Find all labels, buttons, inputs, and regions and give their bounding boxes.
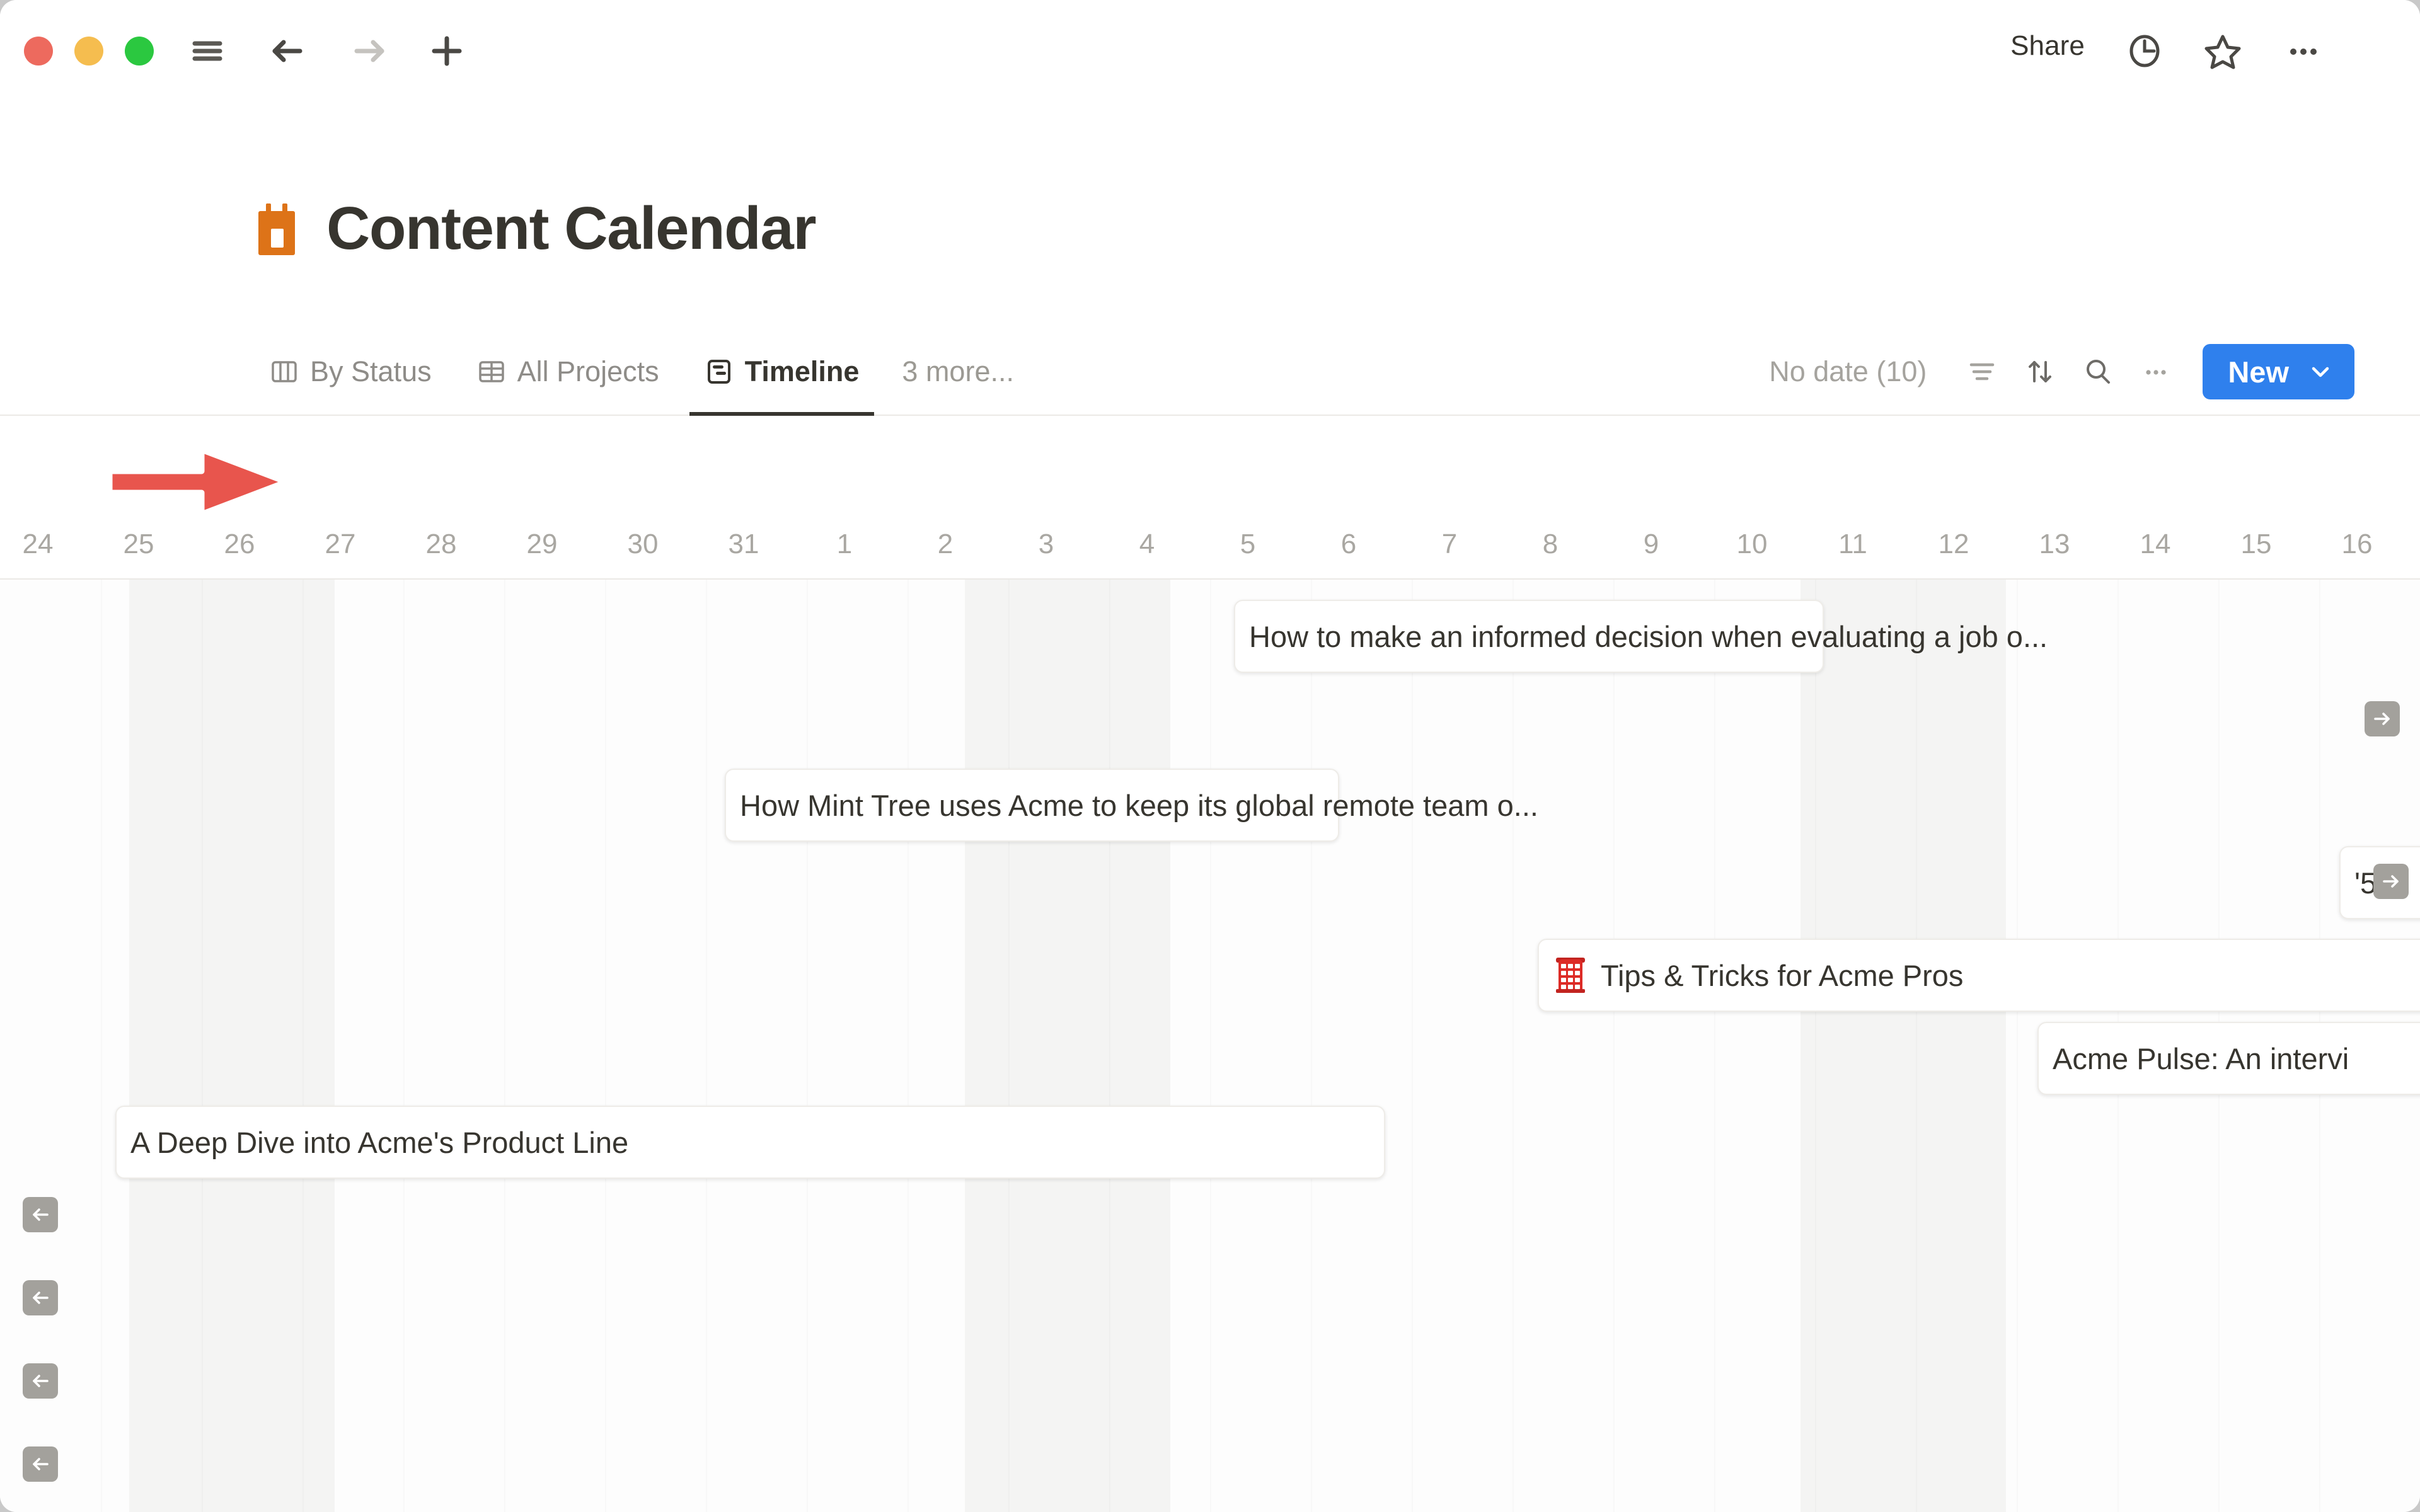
weekend-column (965, 580, 1170, 1512)
tab-by-status[interactable]: By Status (255, 328, 447, 416)
board-view-icon (270, 357, 299, 386)
page-title-row: Content Calendar (255, 198, 815, 259)
grid-line (807, 580, 808, 1512)
grid-line (1311, 580, 1312, 1512)
timeline-card[interactable]: Tips & Tricks for Acme Pros (1538, 939, 2420, 1012)
day-ruler-cell: 14 (2105, 510, 2206, 578)
day-ruler-cell: 12 (1903, 510, 2004, 578)
timeline-card[interactable]: Acme Pulse: An intervi (2037, 1022, 2420, 1095)
telephone-box-emoji-icon (1553, 958, 1588, 993)
grid-line (101, 580, 102, 1512)
calendar-emoji-icon (255, 202, 300, 255)
tab-timeline[interactable]: Timeline (689, 328, 875, 416)
new-button-label: New (2228, 355, 2289, 389)
day-ruler-cell: 27 (290, 510, 391, 578)
grid-line (302, 580, 304, 1512)
sort-icon[interactable] (2011, 343, 2069, 401)
tab-all-projects[interactable]: All Projects (462, 328, 674, 416)
search-icon[interactable] (2069, 343, 2127, 401)
view-tabs-bar: By Status All Projects Timeline (0, 328, 2420, 416)
share-button[interactable]: Share (2010, 30, 2085, 62)
grid-line (1714, 580, 1715, 1512)
grid-line (1613, 580, 1615, 1512)
day-ruler-cell: 6 (1298, 510, 1399, 578)
grid-line (504, 580, 505, 1512)
hamburger-menu-icon[interactable] (184, 28, 231, 74)
day-ruler-cell: 4 (1097, 510, 1197, 578)
grid-line (907, 580, 909, 1512)
timeline-card-title: A Deep Dive into Acme's Product Line (130, 1128, 628, 1157)
new-button[interactable]: New (2203, 344, 2354, 399)
plus-icon[interactable] (423, 28, 470, 74)
view-toolbar: No date (10) (1769, 328, 2354, 416)
day-ruler-cell: 5 (1197, 510, 1298, 578)
grid-line (2017, 580, 2018, 1512)
weekend-column (1801, 580, 2006, 1512)
grid-line (403, 580, 405, 1512)
scroll-left-badge-icon[interactable] (23, 1280, 58, 1315)
timeline-header: » January 2024 February 5 Open in Calend… (0, 416, 2420, 491)
annotation-arrow-icon (107, 441, 290, 523)
day-ruler-cell: 30 (592, 510, 693, 578)
day-ruler-cell: 7 (1399, 510, 1500, 578)
tab-label: Timeline (745, 355, 860, 388)
day-ruler-cell: 10 (1702, 510, 1802, 578)
day-ruler-cell: 31 (693, 510, 794, 578)
arrow-left-icon[interactable] (265, 28, 311, 74)
ellipsis-icon[interactable] (2280, 28, 2327, 74)
timeline-card-title: Acme Pulse: An intervi (2053, 1044, 2349, 1074)
filter-icon[interactable] (1953, 343, 2011, 401)
grid-line (1210, 580, 1211, 1512)
grid-line (202, 580, 203, 1512)
toolbar-more-icon[interactable] (2127, 343, 2185, 401)
star-icon[interactable] (2199, 28, 2246, 74)
grid-line (1412, 580, 1413, 1512)
tab-label: All Projects (517, 355, 659, 388)
day-ruler-cell: 15 (2206, 510, 2307, 578)
table-view-icon (477, 357, 506, 386)
scroll-left-badge-icon[interactable] (23, 1197, 58, 1232)
tab-label: By Status (310, 355, 432, 388)
timeline-card-title: Tips & Tricks for Acme Pros (1601, 961, 1963, 990)
timeline-day-ruler: 242526272829303112345678910111213141516 (0, 510, 2420, 580)
scroll-left-badge-icon[interactable] (23, 1446, 58, 1482)
scroll-right-badge-icon[interactable] (2365, 701, 2400, 736)
timeline-card-title: How Mint Tree uses Acme to keep its glob… (740, 791, 1538, 820)
timeline-card[interactable]: How to make an informed decision when ev… (1234, 600, 1824, 673)
grid-line (706, 580, 707, 1512)
window-titlebar: Share (0, 0, 2420, 101)
day-ruler-cell: 16 (2307, 510, 2407, 578)
timeline-card[interactable]: A Deep Dive into Acme's Product Line (115, 1106, 1385, 1179)
view-tabs: By Status All Projects Timeline (255, 328, 1027, 416)
day-ruler-cell: 28 (391, 510, 492, 578)
scroll-left-badge-icon[interactable] (23, 1363, 58, 1399)
no-date-count-label[interactable]: No date (10) (1769, 355, 1927, 388)
day-ruler-cell: 29 (492, 510, 592, 578)
app-window: Share Content Calendar (0, 0, 2420, 1512)
day-ruler-cell: 3 (996, 510, 1097, 578)
day-ruler-cell: 8 (1500, 510, 1601, 578)
grid-line (1916, 580, 1917, 1512)
tabs-more-button[interactable]: 3 more... (889, 355, 1027, 388)
window-minimize-button[interactable] (74, 37, 103, 66)
chevron-down-icon[interactable] (2308, 359, 2333, 384)
day-ruler-cell: 2 (895, 510, 996, 578)
day-ruler-cell: 1 (794, 510, 895, 578)
day-ruler-cell: 9 (1601, 510, 1702, 578)
timeline-card-title: How to make an informed decision when ev… (1249, 622, 2048, 651)
timeline-card[interactable]: How Mint Tree uses Acme to keep its glob… (725, 769, 1339, 842)
weekend-column (129, 580, 335, 1512)
grid-line (1512, 580, 1514, 1512)
scroll-right-badge-icon[interactable] (2373, 864, 2409, 899)
grid-line (1008, 580, 1010, 1512)
day-ruler-cell: 24 (0, 510, 88, 578)
timeline-view-icon (705, 357, 734, 386)
day-ruler-cell: 11 (1802, 510, 1903, 578)
window-maximize-button[interactable] (125, 37, 154, 66)
grid-line (605, 580, 606, 1512)
page-title: Content Calendar (326, 198, 815, 259)
arrow-right-icon (345, 28, 392, 74)
window-close-button[interactable] (24, 37, 53, 66)
grid-line (1815, 580, 1816, 1512)
day-ruler-cell: 13 (2004, 510, 2105, 578)
clock-icon[interactable] (2121, 28, 2168, 74)
grid-line (1109, 580, 1110, 1512)
